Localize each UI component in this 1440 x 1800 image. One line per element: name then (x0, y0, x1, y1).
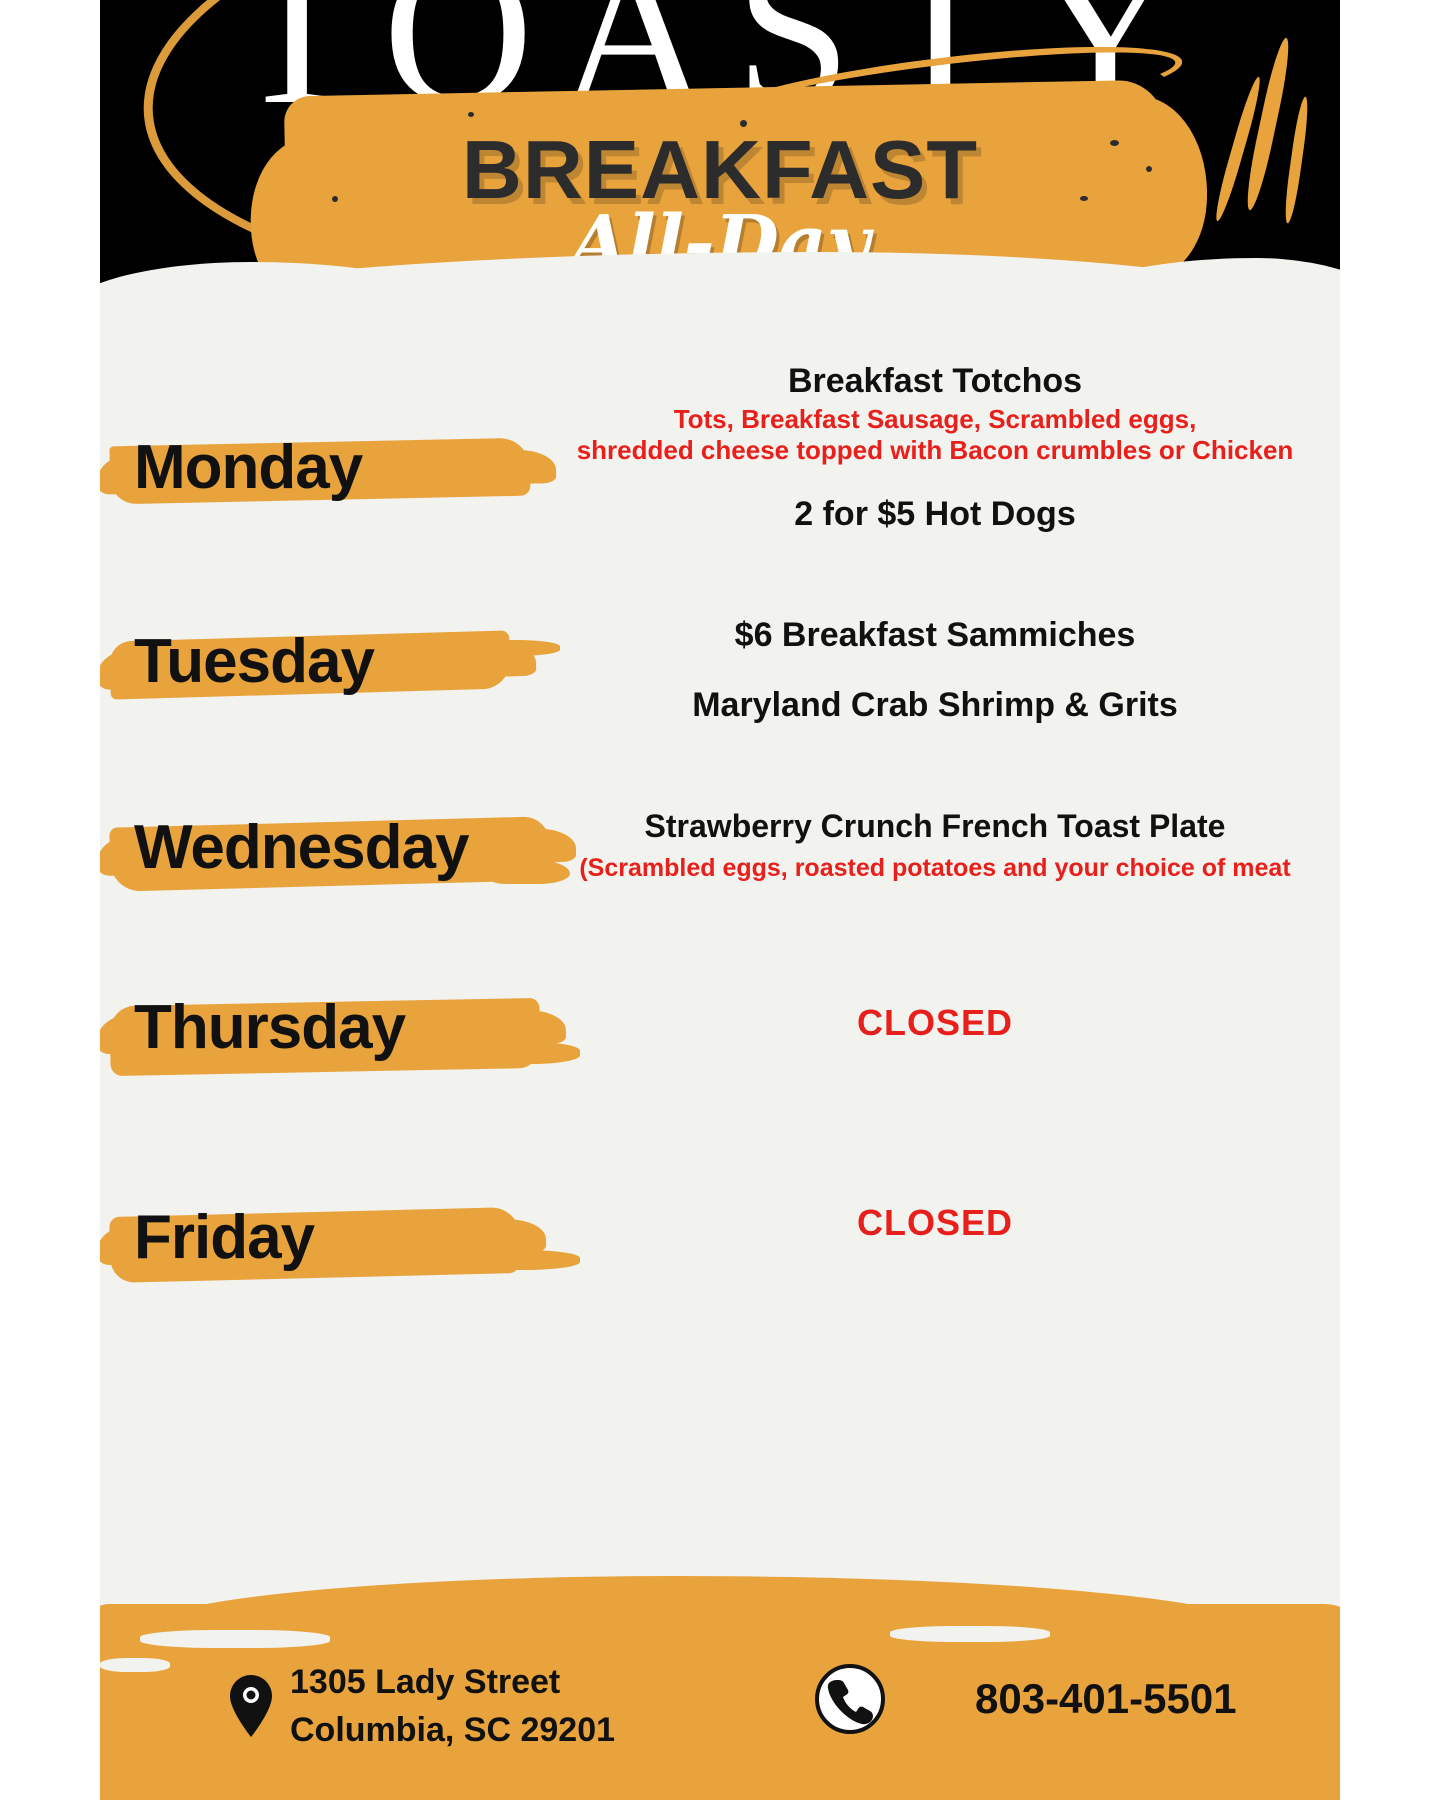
phone-icon (815, 1664, 885, 1734)
day-items-monday: Breakfast Totchos Tots, Breakfast Sausag… (530, 360, 1340, 536)
day-label-wednesday: Wednesday (110, 800, 560, 896)
day-items-wednesday: Strawberry Crunch French Toast Plate (Sc… (530, 806, 1340, 883)
menu-item-title: $6 Breakfast Sammiches (530, 614, 1340, 658)
day-name-text: Wednesday (134, 800, 468, 896)
footer-notch (140, 1630, 330, 1648)
address-line-1: 1305 Lady Street (290, 1658, 615, 1706)
header-title: BREAKFAST (100, 128, 1340, 211)
brush-fragment (440, 1250, 580, 1270)
spacer (530, 467, 1340, 493)
menu-item-title: Breakfast Totchos (530, 360, 1340, 404)
phone-group[interactable]: 803-401-5501 (815, 1664, 1237, 1734)
day-items-thursday: CLOSED (530, 1002, 1340, 1044)
brush-fragment (410, 448, 530, 462)
breakfast-menu-flyer: TOASTY BREAKFAST All-Day Monday Breakfas… (100, 0, 1340, 1800)
flyer-footer: 1305 Lady Street Columbia, SC 29201 803-… (100, 1570, 1340, 1800)
day-name-text: Monday (134, 420, 362, 516)
menu-item-title: Maryland Crab Shrimp & Grits (530, 684, 1340, 728)
status-closed: CLOSED (530, 1002, 1340, 1044)
menu-item-title: 2 for $5 Hot Dogs (530, 493, 1340, 537)
day-label-friday: Friday (110, 1190, 560, 1286)
menu-item-title: Strawberry Crunch French Toast Plate (530, 806, 1340, 847)
flyer-header: TOASTY BREAKFAST All-Day (100, 0, 1340, 300)
phone-number: 803-401-5501 (975, 1675, 1237, 1723)
footer-notch (890, 1626, 1050, 1642)
address-lines: 1305 Lady Street Columbia, SC 29201 (290, 1658, 615, 1755)
address-group[interactable]: 1305 Lady Street Columbia, SC 29201 (230, 1658, 615, 1755)
day-items-friday: CLOSED (530, 1202, 1340, 1244)
menu-item-description: (Scrambled eggs, roasted potatoes and yo… (530, 853, 1340, 884)
footer-content: 1305 Lady Street Columbia, SC 29201 803-… (100, 1654, 1340, 1774)
day-label-thursday: Thursday (110, 980, 560, 1076)
day-name-text: Thursday (134, 980, 405, 1076)
day-name-text: Tuesday (134, 614, 374, 710)
brush-fragment (460, 1042, 580, 1064)
spacer (530, 658, 1340, 684)
day-label-monday: Monday (110, 420, 560, 516)
address-line-2: Columbia, SC 29201 (290, 1706, 615, 1754)
menu-item-description: shredded cheese topped with Bacon crumbl… (530, 435, 1340, 467)
day-items-tuesday: $6 Breakfast Sammiches Maryland Crab Shr… (530, 614, 1340, 727)
day-label-tuesday: Tuesday (110, 614, 560, 710)
menu-item-description: Tots, Breakfast Sausage, Scrambled eggs, (530, 404, 1340, 436)
paint-speck (468, 112, 474, 117)
day-name-text: Friday (134, 1190, 314, 1286)
status-closed: CLOSED (530, 1202, 1340, 1244)
map-pin-icon (230, 1675, 272, 1737)
